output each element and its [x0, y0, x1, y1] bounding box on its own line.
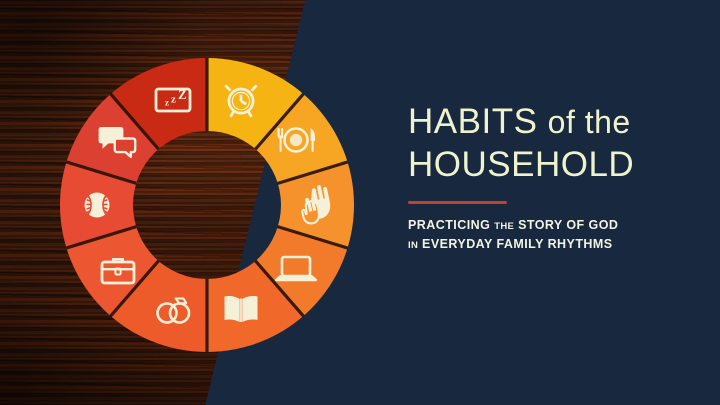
- subtitle-story-of-god: STORY OF GOD: [518, 218, 618, 232]
- subtitle-in: IN: [408, 240, 418, 251]
- slide-canvas: z z Z HABITS of the HOUSEHOLD PRACTICING…: [0, 0, 720, 405]
- page-title-line-2: HOUSEHOLD: [408, 144, 698, 187]
- subtitle-the: THE: [494, 221, 514, 232]
- habits-wheel: z z Z: [57, 55, 357, 355]
- title-household: HOUSEHOLD: [408, 145, 634, 184]
- open-book-icon: [225, 296, 258, 322]
- svg-text:z: z: [165, 98, 169, 108]
- svg-text:Z: Z: [178, 87, 187, 102]
- subtitle-practicing: PRACTICING: [408, 218, 490, 232]
- subtitle-line-2: IN EVERYDAY FAMILY RHYTHMS: [408, 235, 698, 254]
- subtitle-line-1: PRACTICING THE STORY OF GOD: [408, 216, 698, 235]
- title-divider: [408, 201, 507, 204]
- svg-text:z: z: [171, 94, 176, 106]
- subtitle-block: PRACTICING THE STORY OF GOD IN EVERYDAY …: [408, 216, 698, 254]
- title-of-the: of the: [548, 104, 631, 140]
- title-block: HABITS of the HOUSEHOLD PRACTICING THE S…: [408, 101, 698, 254]
- title-habits: HABITS: [408, 102, 537, 141]
- baseball-icon: [85, 193, 110, 218]
- wheel-segments: [8, 5, 406, 405]
- subtitle-everyday-family-rhythms: EVERYDAY FAMILY RHYTHMS: [422, 237, 613, 251]
- page-title-line-1: HABITS of the: [408, 101, 698, 144]
